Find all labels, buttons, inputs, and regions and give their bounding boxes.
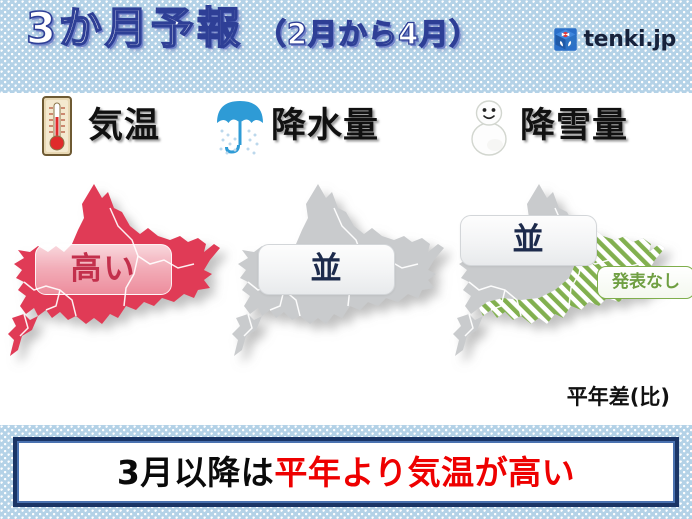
summary-banner: 3月以降は平年より気温が高い [0, 425, 692, 519]
thermometer-icon [30, 95, 84, 157]
map-value-label-temperature: 高い [71, 254, 137, 285]
category-label-temperature: 気温 [88, 109, 160, 144]
maps-row: 高い [0, 178, 692, 378]
category-snowfall: 降雪量 [462, 95, 628, 157]
map-value-label-precipitation: 並 [311, 254, 343, 285]
footnote-normal-difference: 平年差(比) [567, 381, 670, 411]
map-value-pill-temperature: 高い [35, 244, 172, 295]
summary-banner-frame: 3月以降は平年より気温が高い [13, 437, 679, 507]
category-row: 気温 降水 [0, 95, 692, 180]
map-note-label-snowfall: 発表なし [612, 274, 680, 291]
tenki-logo-text: tenki.jp [583, 29, 676, 51]
infographic-page: 3か月予報 （2月から4月） tenki.jp [0, 0, 692, 519]
map-note-pill-snowfall: 発表なし [597, 266, 692, 299]
summary-banner-inner: 3月以降は平年より気温が高い [17, 441, 675, 503]
snowman-icon [462, 95, 516, 157]
page-title-period: （2月から4月） [257, 20, 479, 55]
summary-text-red: 平年より気温が高い [274, 453, 575, 492]
summary-banner-text: 3月以降は平年より気温が高い [117, 456, 575, 489]
tenki-logo[interactable]: tenki.jp [553, 27, 676, 52]
category-precipitation: 降水量 [213, 95, 379, 157]
category-label-precipitation: 降水量 [271, 109, 379, 144]
umbrella-rain-icon [213, 95, 267, 157]
map-precipitation[interactable]: 並 [222, 178, 467, 378]
category-temperature: 気温 [30, 95, 160, 157]
map-temperature[interactable]: 高い [0, 178, 243, 378]
tenki-cube-icon [553, 27, 578, 52]
map-snowfall[interactable]: 並 発表なし [443, 178, 688, 378]
page-title-main: 3か月予報 [26, 8, 243, 55]
summary-text-black: 3月以降は [117, 453, 274, 492]
map-value-label-snowfall: 並 [513, 225, 545, 256]
map-value-pill-precipitation: 並 [258, 244, 395, 295]
map-value-pill-snowfall: 並 [460, 215, 597, 266]
header-bar: 3か月予報 （2月から4月） tenki.jp [0, 0, 692, 93]
category-label-snowfall: 降雪量 [520, 109, 628, 144]
page-title: 3か月予報 （2月から4月） [26, 8, 479, 55]
